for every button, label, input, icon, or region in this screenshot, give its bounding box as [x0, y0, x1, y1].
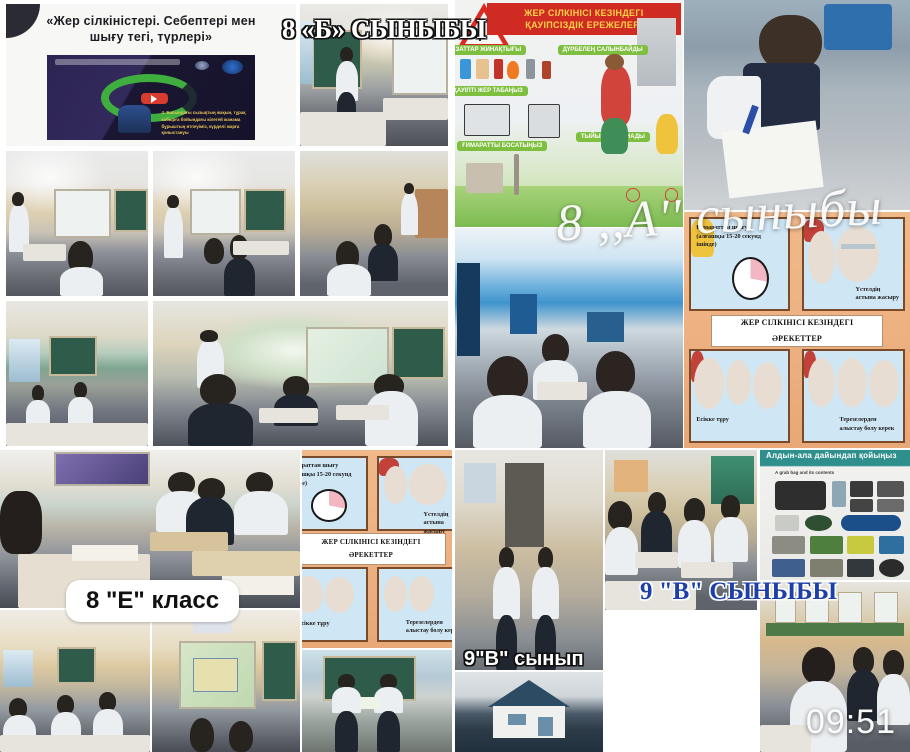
window [3, 650, 33, 687]
actions-line1-lower: ЖЕР СІЛКІНІСІ КЕЗІНДЕГІ [321, 536, 420, 549]
photo-9v-boy-front [760, 582, 910, 752]
action-text-evacuate: Ғимараттан шығу (алғашқы 15-20 секунд іш… [696, 224, 774, 250]
held-paper [359, 697, 380, 709]
action-box-windows-lower: Терезелерден алыстау болу керек [377, 567, 452, 642]
chalkboard [57, 647, 96, 684]
illustration-blob-g [837, 358, 867, 407]
slide-corner-accent [6, 4, 40, 38]
desk-a [259, 408, 318, 423]
phone-icon [526, 59, 535, 79]
illustration-blob-i [384, 466, 407, 503]
student-head-b [229, 721, 253, 752]
action-box-under-table: Үстелдің астына жасыру [802, 217, 906, 311]
student-head-c [99, 692, 116, 710]
illustration-blob-k [302, 576, 323, 613]
actions-line2: ӘРЕКЕТТЕР [772, 331, 822, 346]
illustration-blob-m [384, 576, 407, 612]
actions-center-label: ЖЕР СІЛКІНІСІ КЕЗІНДЕГІ ӘРЕКЕТТЕР [711, 315, 883, 347]
student-head-front [200, 374, 235, 406]
screen-display [464, 463, 497, 503]
photo-top-teacher [300, 4, 448, 146]
teacher-torso [401, 192, 419, 236]
actions-center-label-lower: ЖЕР СІЛКІНІСІ КЕЗІНДЕГІ ӘРЕКЕТТЕР [302, 533, 446, 565]
photo-house-model [455, 672, 603, 752]
kit-poster-title: Алдын-ала дайындап қойыңыз [766, 451, 907, 460]
student-torso-b [224, 258, 255, 296]
photo-blue-classroom [455, 228, 683, 448]
student-torso-a [493, 567, 520, 620]
chalkboard [49, 336, 97, 377]
actions-line1: ЖЕР СІЛКІНІСІ КЕЗІНДЕГІ [741, 315, 854, 330]
student-head-a [204, 238, 224, 264]
window [9, 339, 40, 383]
supply-icon-4 [879, 536, 905, 554]
power-line-graphic [514, 154, 519, 195]
action-text-doorway-lower: Есікке тұру [302, 620, 345, 629]
foreground-head [0, 491, 42, 554]
poster-banner-line1: ЖЕР СІЛКІНІСІ КЕЗІНДЕГІ [524, 7, 644, 19]
desk [233, 241, 290, 256]
photo-row2-students-row [300, 151, 448, 296]
grab-bag-icon [775, 481, 826, 510]
action-text-under-table: Үстелдің астына жасыру [855, 286, 899, 303]
fire-extinguisher-icon [494, 59, 503, 79]
student-torso-right-b [877, 674, 910, 725]
prohibited-icon-a [626, 188, 640, 202]
video-person-silhouette [118, 105, 151, 134]
student-torso-a [368, 244, 398, 282]
clock-icon [732, 257, 769, 300]
person-head [340, 47, 353, 63]
mask-icon [775, 515, 799, 531]
wall-poster-b [510, 294, 537, 334]
supply-icon-5 [772, 559, 805, 577]
student-head-a [608, 501, 632, 530]
actions-line2-lower: ӘРЕКЕТТЕР [349, 549, 393, 562]
poster-earthquake-actions-lower: Ғимараттан шығу (алғашқы 15-20 секунд іш… [302, 450, 452, 648]
presenter-torso-a [332, 687, 361, 714]
action-box-away-from-windows: Терезелерден алыстау болу керек [802, 349, 906, 443]
student-torso-b [68, 397, 92, 426]
window [300, 21, 313, 83]
student-head-left [487, 356, 528, 400]
wall-board [614, 460, 647, 492]
wall-emblem [193, 621, 231, 632]
illustration-blob-f [808, 358, 836, 407]
house-roof [488, 680, 571, 707]
clock-icon-lower [311, 489, 347, 522]
illustration-blob-b [836, 226, 880, 282]
illustration-blob-l [325, 577, 354, 613]
table-shelter-graphic [464, 104, 510, 136]
student-torso [60, 267, 103, 296]
house-silhouette-graphic [466, 163, 502, 193]
projection-screen [190, 189, 241, 235]
tool-icon-b [877, 481, 904, 497]
action-text-windows: Терезелерден алыстау болу керек [839, 416, 899, 433]
table-graphic [841, 244, 875, 249]
action-box-doorway-lower: Есікке тұру [302, 567, 368, 642]
desk-row [6, 423, 148, 446]
student-torso-d [641, 511, 671, 556]
illustration-blob-c [694, 358, 723, 409]
student-torso-b [532, 567, 559, 620]
house-walls [493, 706, 564, 738]
chalkboard [114, 189, 148, 233]
poster-tag-supplies: ЗАТТАР ЖИНАҚТЫҒЫ [455, 45, 526, 55]
tool-icon-a [850, 481, 873, 497]
whiteboard [392, 27, 448, 95]
interactive-board [54, 189, 111, 238]
wall-poster-c [838, 592, 862, 623]
action-box-evacuate-lower: Ғимараттан шығу (алғашқы 15-20 секунд іш… [302, 456, 368, 531]
photo-8e-lower [0, 610, 150, 752]
desk-row [0, 735, 150, 752]
wall-poster-c [587, 312, 623, 343]
desk-right [383, 98, 448, 121]
supply-icon-7 [847, 559, 874, 577]
paper-sheet [721, 120, 823, 198]
tool-icon-d [877, 499, 904, 512]
photo-girl-writing [684, 0, 910, 210]
video-badge-secondary-icon [195, 61, 210, 70]
person-running-graphic [601, 66, 631, 125]
wall-poster-d [874, 592, 898, 623]
seismograph-icon [479, 25, 481, 41]
photo-map-screen [152, 610, 300, 752]
doorway [505, 463, 543, 547]
chair-graphic [824, 4, 892, 50]
illustration-blob-d [726, 360, 751, 405]
wall-poster-a [457, 263, 480, 355]
box-icon [476, 59, 490, 79]
supply-icon-6 [810, 559, 843, 577]
poster-banner-line2: ҚАУІПСІЗДІК ЕРЕЖЕЛЕРІ [525, 19, 642, 31]
projection-screen [306, 327, 389, 385]
action-box-doorway: Есікке тұру [689, 349, 791, 443]
play-icon [141, 93, 168, 104]
teacher-head [200, 330, 218, 342]
photo-9v-presenters [302, 650, 452, 752]
poster-tag-evacuate: ҒИМАРАТТЫ БОСАТЫҢЫЗ [457, 141, 547, 151]
student-head-a [32, 385, 45, 401]
person-yellow-graphic [656, 114, 679, 155]
workbook [72, 545, 138, 561]
poster-earthquake-actions: Ғимараттан шығу (алғашқы 15-20 секунд іш… [684, 212, 910, 448]
person-head-graphic [605, 54, 623, 70]
student-head-c [721, 495, 741, 519]
desk [537, 382, 587, 400]
kit-poster-subtitle: A grab bag and its contents [775, 470, 834, 475]
photo-row2-board-pointing [6, 151, 148, 296]
student-torso-c [234, 491, 288, 535]
illustration-blob-a [808, 231, 836, 283]
desk-a [150, 532, 228, 551]
poster-earthquake-safety-rules: ЖЕР СІЛКІНІСІ КЕЗІНДЕГІ ҚАУІПСІЗДІК ЕРЕЖ… [455, 0, 683, 227]
action-text-doorway: Есікке тұру [696, 416, 747, 425]
student-torso-c [714, 517, 747, 562]
student-head-a [190, 718, 214, 752]
rope-icon [805, 515, 832, 531]
blanket-icon [841, 515, 901, 531]
front-student-head [802, 647, 835, 684]
house-window [508, 714, 526, 725]
supply-icon-3 [847, 536, 874, 554]
slide-video-thumbnail: 4. Басындағы сызықтың жақын, тұрақ кабыр… [47, 55, 256, 140]
action-box-evacuate: Ғимараттан шығу (алғашқы 15-20 секунд іш… [689, 217, 791, 311]
chalkboard [244, 189, 287, 233]
cabinet [415, 189, 448, 238]
student-head-b [74, 382, 87, 398]
poster-tag-no-panic: ДҮРБЕЛЕҢ САЛЫНБАЙДЫ [558, 45, 648, 55]
chalkboard [392, 327, 445, 379]
presenter-legs-b [377, 711, 400, 752]
desk-front [760, 725, 811, 752]
flame-icon [507, 61, 518, 79]
student-torso-a [605, 527, 638, 575]
desk-b [336, 405, 389, 420]
student-torso-right-a [847, 670, 880, 721]
student-head-b [538, 547, 553, 569]
illustration-blob-n [409, 576, 434, 612]
video-caption-text: 4. Басындағы сызықтың жақын, тұрақ кабыр… [161, 110, 249, 136]
action-box-under-table-lower: Үстелдің астына жасыру [377, 456, 452, 531]
student-legs-b [535, 615, 556, 670]
student-torso-right [583, 391, 651, 448]
desk [300, 112, 386, 146]
slide-title-text: «Жер сілкіністері. Себептері мен шығу те… [41, 13, 261, 47]
overlay-class-8e: 8 "Е" класс [66, 580, 239, 622]
student-torso-b [327, 264, 371, 296]
illustration-blob-j [409, 464, 446, 505]
student-head-right [596, 351, 635, 395]
poster-tag-danger-zone: ҚАУІПТІ ЖЕР ТАБАҢЫЗ [455, 86, 528, 96]
tool-icon-c [850, 499, 873, 512]
teacher-head [404, 183, 414, 195]
photo-9v-group [605, 450, 757, 610]
photo-collage: «Жер сілкіністері. Себептері мен шығу те… [0, 0, 910, 752]
plant-row [766, 623, 904, 637]
projection-screen [54, 452, 150, 487]
student-legs-a [496, 615, 517, 670]
illustration-blob-e [753, 362, 782, 409]
water-jug-icon [832, 481, 846, 507]
desk-front [605, 581, 696, 610]
photo-row3-classroom-wide [6, 301, 148, 446]
desk-b [192, 551, 300, 576]
house-door [538, 717, 553, 736]
wall-poster-b [805, 592, 829, 623]
desk-a [635, 552, 678, 568]
teacher-torso [164, 206, 182, 258]
water-bottle-icon [460, 59, 471, 79]
person-legs-graphic [601, 118, 628, 154]
wall-poster-a [775, 592, 796, 623]
supply-icon-8 [879, 559, 905, 577]
photo-row2-teacher-board [153, 151, 295, 296]
supply-icon-1 [772, 536, 805, 554]
doorway-graphic [528, 104, 560, 138]
photo-9v-corridor [455, 450, 603, 670]
teacher-head [12, 192, 25, 207]
illustration-blob-h [869, 360, 899, 407]
student-torso-front [188, 403, 253, 447]
student-torso-left [473, 395, 541, 448]
action-text-evacuate-lower: Ғимараттан шығу (алғашқы 15-20 секунд іш… [302, 462, 359, 488]
action-text-windows-lower: Терезелерден алыстау болу керек [406, 619, 452, 636]
poster-emergency-kit: Алдын-ала дайындап қойыңыз A grab bag an… [760, 450, 910, 580]
photo-row3-presentation [153, 301, 448, 446]
map-shape [193, 658, 237, 692]
presenter-legs-a [335, 711, 358, 752]
video-header-bar [55, 59, 180, 66]
student-head-b [57, 695, 74, 713]
chalkboard [262, 641, 298, 701]
desk-b [681, 562, 733, 578]
desk [23, 244, 66, 261]
supply-icon-2 [810, 536, 843, 554]
video-badge-icon [222, 60, 243, 74]
slide-earthquake-title: «Жер сілкіністері. Себептері мен шығу те… [6, 4, 296, 146]
radio-icon [542, 61, 551, 79]
student-head-a [499, 547, 514, 569]
teacher-head [167, 195, 178, 208]
